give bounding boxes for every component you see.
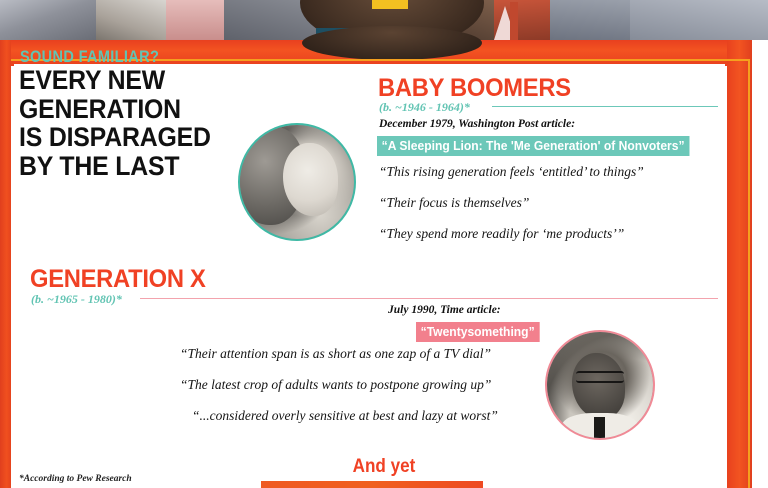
section-rule-baby-boomers [492, 106, 718, 107]
quote-boomer-3: “They spend more readily for ‘me product… [379, 226, 624, 242]
quote-boomer-2: “Their focus is themselves” [379, 195, 529, 211]
source-citation-generation-x: July 1990, Time article: [388, 304, 501, 316]
section-title-baby-boomers: BABY BOOMERS [378, 74, 571, 103]
tower-shape [510, 2, 518, 40]
collage-yellow-accent [372, 0, 408, 9]
and-yet-divider-bar [261, 481, 483, 488]
quote-boomer-1: “This rising generation feels ‘entitled’… [379, 164, 644, 180]
and-yet-label: And yet [38, 456, 729, 478]
tie-shape [594, 417, 606, 440]
frame-top-arc-cutout [302, 26, 482, 60]
face-shape [572, 353, 625, 419]
section-title-generation-x: GENERATION X [30, 265, 206, 294]
portrait-generation-x [545, 330, 655, 440]
section-years-generation-x: (b. ~1965 - 1980)* [31, 292, 122, 307]
collage-fragment [550, 0, 630, 40]
infographic-page: SOUND FAMILIAR? EVERY NEW GENERATION IS … [0, 0, 768, 488]
section-years-baby-boomers: (b. ~1946 - 1964)* [379, 100, 470, 115]
portrait-baby-boomer [238, 123, 356, 241]
frame-right-white-edge [752, 40, 768, 488]
headline-line-1: EVERY NEW [19, 66, 336, 95]
quote-genx-2: “The latest crop of adults wants to post… [180, 377, 491, 393]
frame-thin-line-right [748, 59, 750, 488]
frame-left-band [0, 40, 11, 488]
face-shape [283, 143, 338, 216]
collage-fragment [630, 0, 768, 40]
collage-fragment [0, 0, 96, 40]
source-citation-baby-boomers: December 1979, Washington Post article: [379, 118, 575, 130]
headline-chip-baby-boomers: “A Sleeping Lion: The 'Me Generation' of… [377, 136, 689, 156]
glasses-shape [576, 371, 625, 383]
section-rule-generation-x [140, 298, 718, 299]
portrait-image [547, 332, 653, 438]
collage-fragment [166, 0, 224, 40]
headline-chip-generation-x: “Twentysomething” [416, 322, 539, 342]
headline-line-2: GENERATION [19, 95, 336, 124]
quote-genx-1: “Their attention span is as short as one… [180, 346, 491, 362]
portrait-image [240, 125, 354, 239]
quote-genx-3: “...considered overly sensitive at best … [192, 408, 498, 424]
collage-fragment [96, 0, 166, 40]
